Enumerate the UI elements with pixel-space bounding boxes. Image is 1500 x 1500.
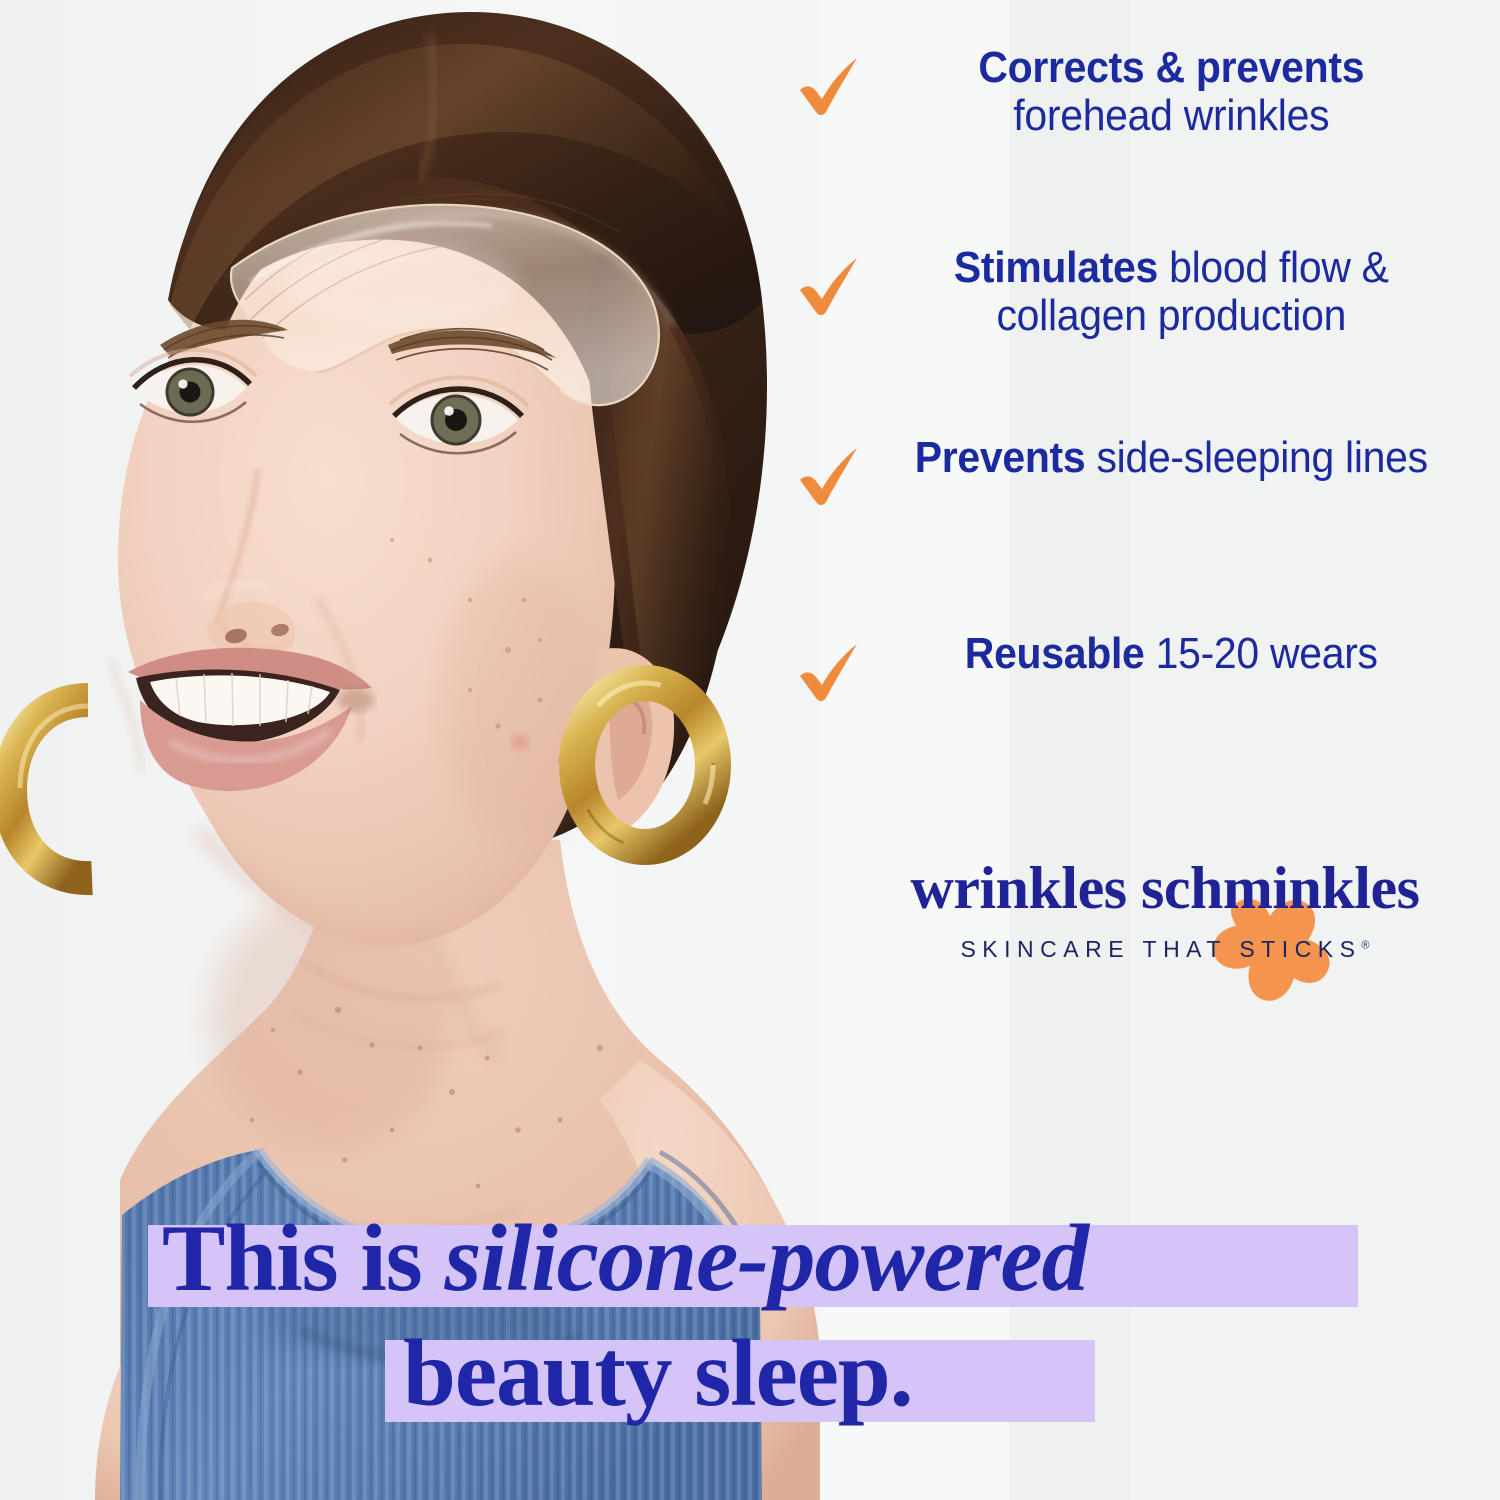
benefit-rest-3: side-sleeping lines [1096, 433, 1427, 482]
benefit-text-3: Prevents side-sleeping lines [887, 434, 1464, 482]
benefits-list: Corrects & prevents forehead wrinkles St… [795, 44, 1485, 750]
benefit-text-4: Reusable 15-20 wears [887, 630, 1464, 678]
orange-check-icon [795, 440, 865, 510]
product-marketing-image: Corrects & prevents forehead wrinkles St… [0, 0, 1500, 1500]
benefit-item-1: Corrects & prevents forehead wrinkles [795, 44, 1485, 244]
benefit-rest-4: 15-20 wears [1156, 629, 1378, 678]
orange-check-icon [795, 636, 865, 706]
brand-tagline-text: SKINCARE THAT STICKS [960, 936, 1361, 962]
benefit-bold-2: Stimulates [954, 243, 1158, 292]
brand-tagline: SKINCARE THAT STICKS® [855, 936, 1475, 963]
benefit-bold-3: Prevents [915, 433, 1086, 482]
headline-line-1: This is silicone-powered [148, 1225, 1102, 1306]
orange-check-icon [795, 50, 865, 120]
brand-name: wrinkles schminkles [855, 858, 1475, 918]
headline-plain-1: This is [162, 1205, 444, 1311]
benefit-item-4: Reusable 15-20 wears [795, 630, 1485, 750]
headline: This is silicone-powered beauty sleep. [0, 1205, 1500, 1500]
registered-mark: ® [1361, 939, 1369, 951]
benefit-bold-1: Corrects & prevents [978, 43, 1364, 92]
benefit-item-3: Prevents side-sleeping lines [795, 434, 1485, 630]
orange-check-icon [795, 250, 865, 320]
benefit-rest-1: forehead wrinkles [1013, 91, 1329, 140]
benefit-text-2: Stimulates blood flow & collagen product… [887, 244, 1464, 341]
headline-italic-1: silicone-powered [444, 1205, 1088, 1311]
benefit-text-1: Corrects & prevents forehead wrinkles [887, 44, 1464, 141]
brand-logo: wrinkles schminkles SKINCARE THAT STICKS… [855, 858, 1475, 1008]
benefit-bold-4: Reusable [965, 629, 1145, 678]
headline-plain-2: beauty sleep. [385, 1326, 931, 1421]
headline-line-2: beauty sleep. [385, 1340, 931, 1421]
benefit-item-2: Stimulates blood flow & collagen product… [795, 244, 1485, 434]
